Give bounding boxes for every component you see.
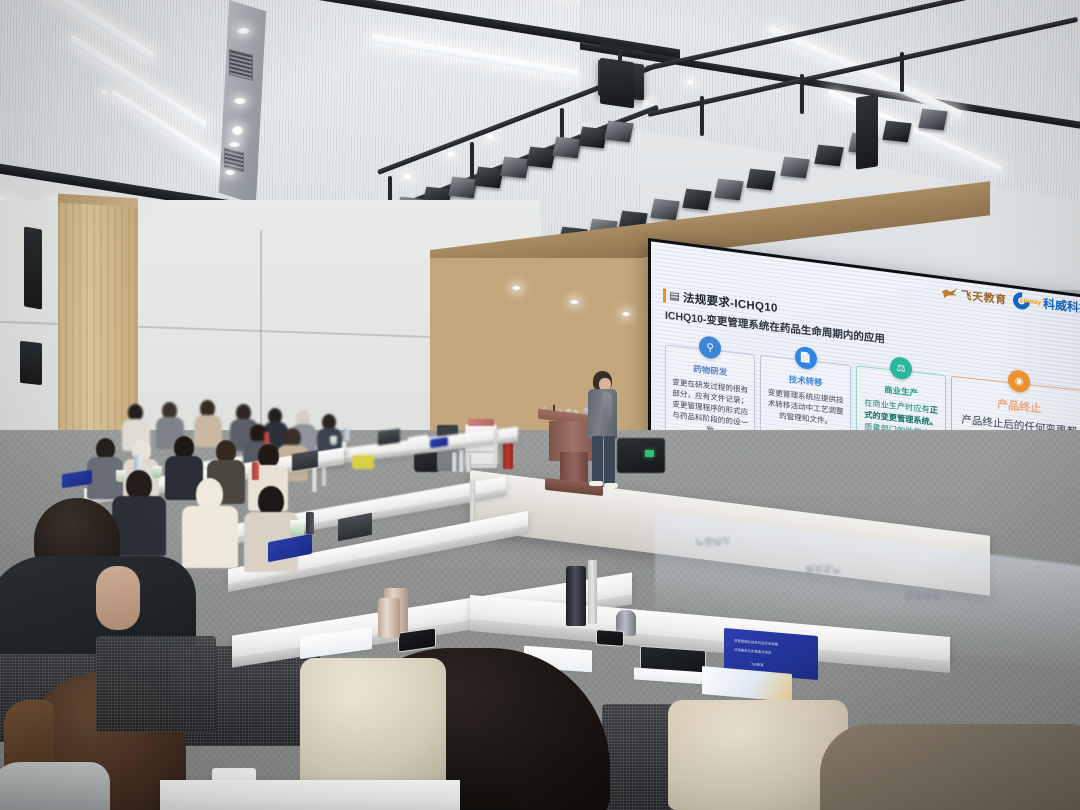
bottom-table-edge xyxy=(160,780,460,810)
column-heading: 药物研发 xyxy=(693,363,727,379)
slide-title-icon xyxy=(670,292,679,301)
feitian-logo-text: 飞天教育 xyxy=(961,286,1007,307)
beige-coat-on-chair xyxy=(300,658,446,788)
coway-logo: coway 科威科技 xyxy=(1013,291,1080,317)
bird-icon xyxy=(942,287,958,300)
chair-foreground xyxy=(96,636,216,732)
column-heading: 商业生产 xyxy=(884,383,918,399)
feitian-logo: 飞天教育 xyxy=(942,284,1007,307)
title-accent-bar xyxy=(663,288,666,302)
foreground-tumbler xyxy=(378,598,400,638)
coway-logo-text: 科威科技 xyxy=(1043,295,1080,317)
column-body: 变更管理系统应提供技术转移活动中工艺调整的管理和文件。 xyxy=(765,387,845,429)
wall-monitor xyxy=(24,226,42,309)
cart-top-items xyxy=(468,419,494,426)
fire-extinguisher xyxy=(503,443,513,469)
floor-bottles xyxy=(452,450,472,472)
equipment-case xyxy=(617,438,665,473)
exit-sign-icon xyxy=(645,450,654,457)
column-heading: 产品终止 xyxy=(997,396,1041,417)
column-heading: 技术转移 xyxy=(789,373,823,389)
wall-monitor-secondary xyxy=(20,341,42,385)
dark-phone xyxy=(596,629,624,647)
black-bottle xyxy=(566,566,586,626)
photo-scene: 飞天教育 coway 科威科技 法规要求-ICHQ10 ICHQ10-变更管理系… xyxy=(0,0,1080,810)
